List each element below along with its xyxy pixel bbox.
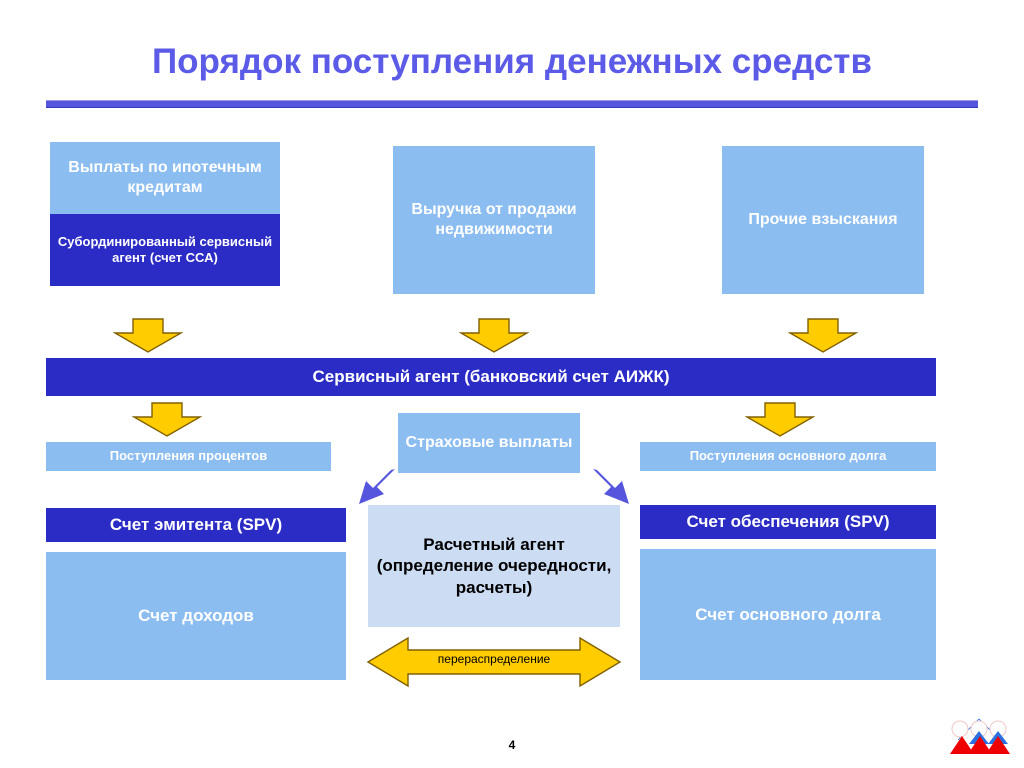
diagonal-arrow-insurance-to-issuer bbox=[345, 466, 400, 510]
box-mortgage-payments-label: Выплаты по ипотечным кредитам bbox=[50, 158, 280, 198]
bar-servicing-agent-label: Сервисный агент (банковский счет АИЖК) bbox=[313, 366, 670, 387]
page-title: Порядок поступления денежных средств bbox=[0, 42, 1024, 82]
redistribution-label: перераспределение bbox=[366, 652, 622, 666]
page-number: 4 bbox=[0, 738, 1024, 752]
box-mortgage-payments: Выплаты по ипотечным кредитам bbox=[50, 142, 280, 214]
box-insurance-payouts: Страховые выплаты bbox=[398, 413, 580, 473]
title-underline-rule bbox=[46, 100, 978, 108]
label-interest-receipts-text: Поступления процентов bbox=[110, 448, 267, 464]
box-property-sale-proceeds: Выручка от продажи недвижимости bbox=[393, 146, 595, 294]
box-calculation-agent-label: Расчетный агент (определение очередности… bbox=[368, 534, 620, 598]
header-security-account: Счет обеспечения (SPV) bbox=[640, 505, 936, 539]
bar-servicing-agent: Сервисный агент (банковский счет АИЖК) bbox=[46, 358, 936, 396]
box-principal-debt-account-label: Счет основного долга bbox=[695, 604, 881, 625]
box-income-account: Счет доходов bbox=[46, 552, 346, 680]
down-arrow-servicing-to-interest bbox=[132, 402, 202, 438]
diagonal-arrow-insurance-to-security bbox=[588, 466, 643, 510]
header-security-account-label: Счет обеспечения (SPV) bbox=[686, 511, 889, 532]
box-other-recoveries-label: Прочие взыскания bbox=[748, 210, 897, 230]
box-calculation-agent: Расчетный агент (определение очередности… bbox=[368, 505, 620, 627]
box-property-sale-proceeds-label: Выручка от продажи недвижимости bbox=[393, 200, 595, 240]
ahml-house-logo-icon bbox=[948, 716, 1010, 758]
down-arrow-mortgage-to-servicing bbox=[113, 318, 183, 354]
down-arrow-sale-to-servicing bbox=[459, 318, 529, 354]
box-income-account-label: Счет доходов bbox=[138, 605, 254, 626]
header-issuer-account: Счет эмитента (SPV) bbox=[46, 508, 346, 542]
box-insurance-payouts-label: Страховые выплаты bbox=[406, 433, 573, 453]
label-principal-receipts: Поступления основного долга bbox=[640, 442, 936, 471]
label-principal-receipts-text: Поступления основного долга bbox=[690, 448, 887, 464]
header-issuer-account-label: Счет эмитента (SPV) bbox=[110, 514, 282, 535]
down-arrow-other-to-servicing bbox=[788, 318, 858, 354]
box-subordinated-servicing-agent-label: Субординированный сервисный агент (счет … bbox=[50, 234, 280, 267]
down-arrow-servicing-to-principal bbox=[745, 402, 815, 438]
box-other-recoveries: Прочие взыскания bbox=[722, 146, 924, 294]
box-subordinated-servicing-agent: Субординированный сервисный агент (счет … bbox=[50, 214, 280, 286]
box-principal-debt-account: Счет основного долга bbox=[640, 549, 936, 680]
label-interest-receipts: Поступления процентов bbox=[46, 442, 331, 471]
